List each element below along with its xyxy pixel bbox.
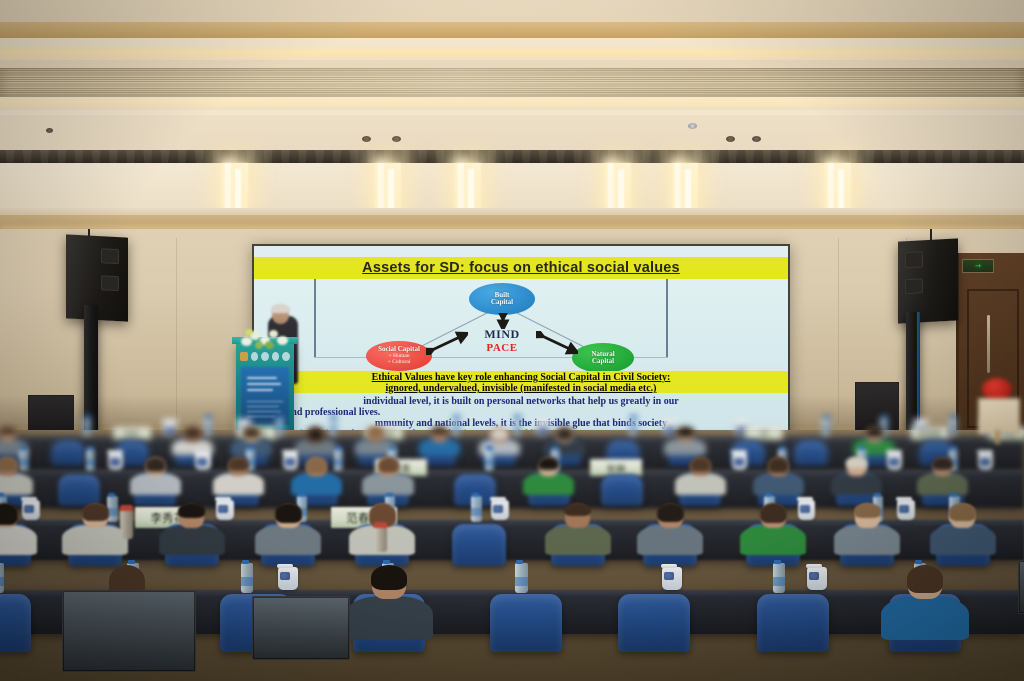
audience-member-hair — [243, 427, 260, 438]
audience-member-torso — [930, 525, 996, 555]
audience-member-torso — [881, 596, 969, 640]
audience-member-torso — [362, 473, 413, 495]
lidded-teacup — [807, 567, 827, 590]
name-card: 靖 — [745, 427, 783, 440]
water-bottle — [822, 418, 830, 436]
laptop[interactable] — [252, 596, 350, 660]
audience-member-hair — [228, 457, 249, 471]
audience-member-hair — [760, 503, 787, 523]
diagram-node-social-capital: Social Capital + Human + Cultural — [366, 341, 432, 371]
lidded-teacup — [662, 567, 682, 590]
arrow-diagonal-right-icon — [536, 331, 578, 355]
recessed-downlight-icon — [726, 136, 735, 142]
audience-member-torso — [545, 525, 611, 555]
podium-logo-icon — [282, 352, 290, 361]
audience-member-hair — [0, 457, 18, 472]
water-bottle — [86, 449, 95, 471]
pendant-light — [455, 163, 481, 209]
lidded-teacup — [22, 500, 40, 520]
pendant-light — [222, 163, 248, 209]
diagram-center-label: MIND PACE — [468, 327, 536, 354]
podium-logo-icon — [240, 352, 248, 361]
podium-flower-arrangement — [239, 327, 291, 351]
lidded-teacup — [732, 453, 747, 470]
water-bottle — [19, 449, 28, 471]
lidded-teacup — [897, 500, 915, 520]
slide-title-bar: Assets for SD: focus on ethical social v… — [254, 257, 788, 279]
audience-member-hair — [0, 427, 16, 435]
audience-member-hair — [367, 427, 384, 437]
audience-member-torso — [291, 473, 342, 495]
slide-title: Assets for SD: focus on ethical social v… — [362, 260, 680, 276]
audience-member-torso — [831, 473, 882, 495]
name-card-label: 靖 — [761, 429, 768, 439]
lidded-teacup — [163, 422, 176, 436]
audience-member-hair — [538, 457, 559, 470]
audience-member-torso — [917, 473, 968, 495]
thermos-flask — [374, 522, 387, 552]
audience-chair — [601, 474, 643, 506]
water-bottle — [329, 418, 337, 436]
pendant-light — [375, 163, 401, 209]
thermos-flask — [120, 505, 133, 539]
audience-member-torso — [675, 473, 726, 495]
diagram-node-built-capital: Built Capital — [469, 283, 535, 315]
lidded-teacup — [536, 422, 549, 436]
diagram-node-natural-capital: Natural Capital — [572, 343, 634, 373]
name-card-label: 贻永 — [125, 429, 140, 439]
water-bottle — [513, 418, 521, 436]
presenter-hair — [271, 304, 290, 313]
lidded-teacup — [283, 453, 298, 470]
pendant-light — [672, 163, 698, 209]
podium-logo-icon — [261, 352, 269, 361]
conference-photo: → Assets for SD: focus on ethical social… — [0, 0, 1024, 681]
audience-member-hair — [82, 503, 109, 521]
audience-member-torso — [0, 525, 37, 555]
water-bottle — [471, 496, 482, 522]
podium-logo-row — [240, 351, 290, 362]
water-bottle — [276, 418, 284, 436]
audience-member-torso — [637, 525, 703, 555]
ceiling-top-strip — [0, 0, 1024, 22]
audience-member-torso — [523, 473, 574, 495]
cove-light-glow-upper — [0, 49, 1024, 58]
water-bottle — [485, 449, 494, 471]
audience-member-hair — [866, 427, 883, 437]
audience-member-torso — [62, 525, 128, 555]
audience-member-hair — [275, 503, 302, 523]
recessed-downlight-icon — [752, 136, 761, 142]
water-bottle — [515, 563, 527, 593]
lidded-teacup — [108, 453, 123, 470]
audience-member-hair — [949, 503, 976, 521]
audience-chair — [58, 474, 100, 506]
audience-member-torso — [0, 473, 33, 495]
water-bottle — [334, 449, 343, 471]
projected-slide: Assets for SD: focus on ethical social v… — [254, 246, 788, 442]
audience-member-hair — [378, 457, 399, 473]
audience-member-hair — [371, 565, 407, 590]
audience-member-torso — [130, 473, 181, 495]
line-array-speaker-right — [898, 238, 958, 323]
audience-chair — [794, 440, 828, 466]
audience-member-hair — [178, 503, 205, 518]
audience-member-hair — [306, 457, 327, 474]
red-bow-icon — [982, 378, 1012, 400]
exit-arrow-icon: → — [975, 262, 981, 270]
water-bottle — [241, 563, 253, 593]
audience-chair — [452, 524, 506, 566]
lidded-teacup — [216, 500, 234, 520]
recessed-downlight-icon — [392, 136, 401, 142]
audience-member-hair — [768, 457, 789, 473]
audience-member-hair — [431, 427, 448, 435]
slide-body-line-3: individual level, it is built on persona… — [254, 396, 788, 407]
audience-member-torso — [753, 473, 804, 495]
arrow-vertical-icon — [490, 313, 516, 329]
exit-sign: → — [962, 259, 994, 273]
audience-member-hair — [932, 457, 953, 470]
water-bottle — [629, 418, 637, 436]
speaker-driver — [101, 275, 119, 291]
pendant-light — [825, 163, 851, 209]
flower-basket-sign — [978, 398, 1020, 434]
projection-screen: Assets for SD: focus on ethical social v… — [252, 244, 790, 444]
audience-member-hair — [307, 427, 324, 442]
lidded-teacup — [663, 422, 676, 436]
water-bottle — [773, 563, 785, 593]
audience-member-torso — [159, 525, 225, 555]
smoke-detector-icon — [688, 123, 697, 129]
audience-member-hair — [145, 457, 166, 472]
flower-basket-stand — [995, 430, 1000, 444]
water-bottle — [949, 418, 957, 436]
name-card-label: 陈宜康 — [919, 429, 941, 439]
speaker-driver — [101, 248, 119, 264]
audience-member-hair — [657, 503, 684, 522]
audience-member-hair — [677, 427, 694, 437]
audience-chair — [618, 594, 690, 652]
wood-beam-upper — [0, 22, 1024, 38]
lidded-teacup — [195, 453, 210, 470]
arrow-diagonal-left-icon — [426, 331, 468, 355]
door-handle[interactable] — [987, 315, 990, 373]
laptop[interactable] — [62, 590, 196, 672]
slide-body-line-1: Ethical Values have key role enhancing S… — [254, 372, 788, 383]
audience-member-hair — [556, 427, 573, 441]
audience-member-hair — [184, 427, 201, 439]
audience-member-torso — [213, 473, 264, 495]
podium-logo-icon — [272, 352, 280, 361]
audience-member-torso — [255, 525, 321, 555]
speaker-driver — [905, 252, 923, 268]
name-card: 陈宜康 — [911, 427, 949, 440]
audience-member-hair — [846, 457, 867, 468]
name-card: 贻永 — [113, 427, 151, 440]
slide-body-line-2: ignored, undervalued, invisible (manifes… — [254, 383, 788, 394]
audience-member-hair — [564, 503, 591, 516]
water-bottle — [83, 418, 91, 436]
audience-chair — [490, 594, 562, 652]
water-bottle — [204, 418, 212, 436]
audience-chair — [757, 594, 829, 652]
podium-logo-icon — [251, 352, 259, 361]
audience-member-torso — [345, 596, 433, 640]
speaker-driver — [905, 278, 923, 294]
audience-member-hair — [907, 565, 943, 593]
recessed-downlight-icon — [362, 136, 371, 142]
audience-member-hair — [0, 503, 18, 525]
audience-member-hair — [854, 503, 881, 518]
recessed-downlight-icon — [46, 128, 53, 133]
ceiling-light-panel — [0, 163, 1024, 213]
audience-chair — [51, 440, 85, 466]
audience-member-torso — [834, 525, 900, 555]
audience-member-torso — [740, 525, 806, 555]
laptop[interactable] — [1018, 560, 1024, 614]
lidded-teacup — [887, 453, 902, 470]
lidded-teacup — [491, 500, 509, 520]
water-bottle — [452, 418, 460, 436]
lidded-teacup — [978, 453, 993, 470]
audience-member-hair — [491, 427, 508, 440]
cove-light-glow-lower — [0, 99, 1024, 108]
lidded-teacup — [798, 500, 816, 520]
water-bottle — [107, 496, 118, 522]
ceiling-mid-band — [0, 60, 1024, 68]
water-bottle — [0, 563, 4, 593]
audience-chair — [0, 594, 31, 652]
name-card-label: 张娟 — [607, 461, 626, 475]
lidded-teacup — [278, 567, 298, 590]
congratulatory-flower-basket — [976, 372, 1020, 444]
pendant-light — [605, 163, 631, 209]
air-vent-sheen — [0, 68, 1024, 97]
ceiling-flat-panel — [0, 115, 1024, 151]
audience-member-hair — [690, 457, 711, 472]
